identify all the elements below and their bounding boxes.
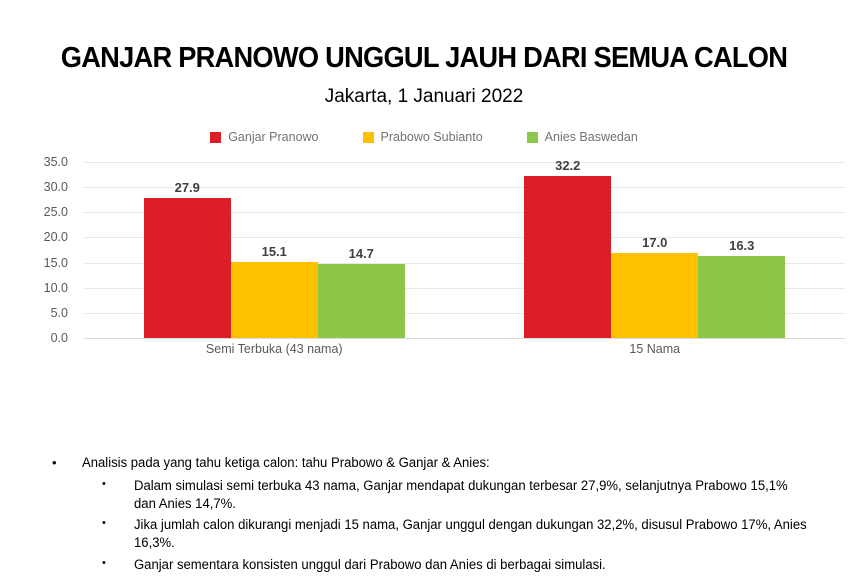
bar-value-label: 32.2 <box>524 158 611 176</box>
bullet-marker-icon: • <box>52 454 82 471</box>
legend-item[interactable]: Anies Baswedan <box>527 130 638 144</box>
bar-value-label: 15.1 <box>231 244 318 262</box>
plot-area: 27.915.114.732.217.016.3 <box>84 162 845 338</box>
legend-swatch-icon <box>363 132 374 143</box>
bullet-text: Jika jumlah calon dikurangi menjadi 15 n… <box>134 516 827 552</box>
bullet-item: •Ganjar sementara konsisten unggul dari … <box>0 556 848 574</box>
y-axis-tick-label: 35.0 <box>44 155 68 169</box>
legend-swatch-icon <box>527 132 538 143</box>
bar-chart: 35.030.025.020.015.010.05.00.0 27.915.11… <box>0 162 848 372</box>
bullet-marker-icon: • <box>102 516 134 531</box>
bullet-text: Ganjar sementara konsisten unggul dari P… <box>134 556 827 574</box>
bullet-text: Analisis pada yang tahu ketiga calon: ta… <box>82 454 825 472</box>
page-title: GANJAR PRANOWO UNGGUL JAUH DARI SEMUA CA… <box>25 42 822 75</box>
bullet-marker-icon: • <box>102 477 134 492</box>
y-axis-tick-label: 15.0 <box>44 256 68 270</box>
bullet-item: •Analisis pada yang tahu ketiga calon: t… <box>0 454 848 472</box>
bar-value-label: 17.0 <box>611 235 698 253</box>
y-axis-tick-label: 0.0 <box>51 331 68 345</box>
x-axis-category-labels: Semi Terbuka (43 nama)15 Nama <box>84 342 845 364</box>
x-axis-tick-label: Semi Terbuka (43 nama) <box>84 342 465 356</box>
y-axis-tick-label: 5.0 <box>51 306 68 320</box>
bar[interactable] <box>231 262 318 338</box>
gridline <box>84 338 845 339</box>
legend-item[interactable]: Ganjar Pranowo <box>210 130 318 144</box>
y-axis-tick-label: 10.0 <box>44 281 68 295</box>
bar[interactable] <box>698 256 785 338</box>
bar[interactable] <box>611 253 698 338</box>
bar[interactable] <box>144 198 231 338</box>
legend-swatch-icon <box>210 132 221 143</box>
bars-layer: 27.915.114.732.217.016.3 <box>84 162 845 338</box>
y-axis-tick-label: 25.0 <box>44 205 68 219</box>
bar-value-label: 14.7 <box>318 246 405 264</box>
bullet-marker-icon: • <box>102 556 134 571</box>
bar-value-label: 16.3 <box>698 238 785 256</box>
bar-value-label: 27.9 <box>144 180 231 198</box>
legend-label: Ganjar Pranowo <box>228 130 318 144</box>
bar[interactable] <box>524 176 611 338</box>
legend-label: Prabowo Subianto <box>381 130 483 144</box>
legend-item[interactable]: Prabowo Subianto <box>363 130 483 144</box>
y-axis: 35.030.025.020.015.010.05.00.0 <box>0 162 76 338</box>
x-axis-tick-label: 15 Nama <box>465 342 846 356</box>
chart-legend: Ganjar PranowoPrabowo SubiantoAnies Basw… <box>0 130 848 144</box>
bullet-text: Dalam simulasi semi terbuka 43 nama, Gan… <box>134 477 827 513</box>
y-axis-tick-label: 20.0 <box>44 230 68 244</box>
y-axis-tick-label: 30.0 <box>44 180 68 194</box>
bullet-list: •Analisis pada yang tahu ketiga calon: t… <box>0 454 848 578</box>
bullet-item: •Jika jumlah calon dikurangi menjadi 15 … <box>0 516 848 552</box>
legend-label: Anies Baswedan <box>545 130 638 144</box>
bullet-item: •Dalam simulasi semi terbuka 43 nama, Ga… <box>0 477 848 513</box>
page-subtitle: Jakarta, 1 Januari 2022 <box>0 86 848 108</box>
bar[interactable] <box>318 264 405 338</box>
